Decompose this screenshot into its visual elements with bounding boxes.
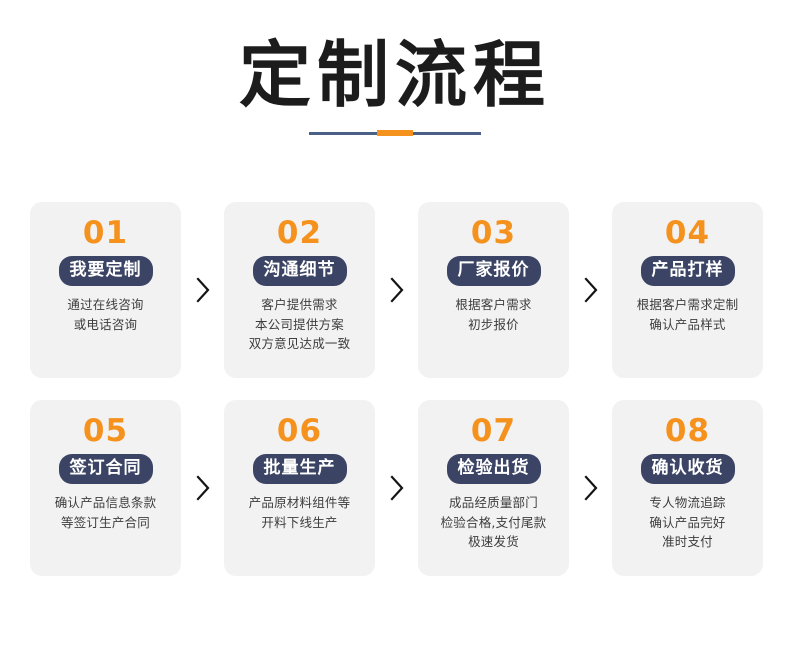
step-card[interactable]: 05 签订合同 确认产品信息条款 等签订生产合同 [30,400,181,576]
step-description-line: 确认产品样式 [637,315,739,334]
step-description-line: 通过在线咨询 [67,295,143,314]
divider-left-segment [309,132,377,135]
page-header: 定制流程 [0,0,790,136]
step-label-badge: 检验出货 [447,454,541,484]
process-steps-grid: 01 我要定制 通过在线咨询 或电话咨询 02 沟通细节 客户提供需求 本公司提… [0,202,790,576]
step-label-badge: 厂家报价 [447,256,541,286]
step-description-line: 成品经质量部门 [441,493,547,512]
step-card[interactable]: 06 批量生产 产品原材料组件等 开料下线生产 [224,400,375,576]
step-description-line: 本公司提供方案 [249,315,351,334]
step-number: 06 [277,414,322,448]
customization-process-page: 定制流程 01 我要定制 通过在线咨询 或电话咨询 [0,0,790,645]
divider-accent-segment [377,130,413,136]
step-description-line: 检验合格,支付尾款 [441,513,547,532]
step-description-line: 开料下线生产 [249,513,351,532]
chevron-right-icon [569,202,612,378]
step-description-line: 极速发货 [441,532,547,551]
step-card[interactable]: 01 我要定制 通过在线咨询 或电话咨询 [30,202,181,378]
step-description: 根据客户需求定制 确认产品样式 [637,295,739,334]
step-card[interactable]: 04 产品打样 根据客户需求定制 确认产品样式 [612,202,763,378]
step-label-badge: 我要定制 [59,256,153,286]
step-description: 确认产品信息条款 等签订生产合同 [55,493,157,532]
step-description-line: 初步报价 [455,315,531,334]
step-label-badge: 批量生产 [253,454,347,484]
step-description-line: 确认产品完好 [649,513,725,532]
step-description: 客户提供需求 本公司提供方案 双方意见达成一致 [249,295,351,353]
step-label-badge: 确认收货 [641,454,735,484]
chevron-right-icon [181,400,224,576]
step-description: 成品经质量部门 检验合格,支付尾款 极速发货 [441,493,547,551]
step-number: 01 [83,216,128,250]
step-description-line: 专人物流追踪 [649,493,725,512]
step-description-line: 准时支付 [649,532,725,551]
step-number: 07 [471,414,516,448]
step-number: 05 [83,414,128,448]
step-number: 08 [665,414,710,448]
step-description: 专人物流追踪 确认产品完好 准时支付 [649,493,725,551]
step-description-line: 客户提供需求 [249,295,351,314]
step-description-line: 等签订生产合同 [55,513,157,532]
step-description-line: 双方意见达成一致 [249,334,351,353]
step-number: 02 [277,216,322,250]
step-card[interactable]: 02 沟通细节 客户提供需求 本公司提供方案 双方意见达成一致 [224,202,375,378]
process-row-2: 05 签订合同 确认产品信息条款 等签订生产合同 06 批量生产 产品原材料组件… [0,400,790,576]
step-card[interactable]: 03 厂家报价 根据客户需求 初步报价 [418,202,569,378]
chevron-right-icon [569,400,612,576]
step-description-line: 产品原材料组件等 [249,493,351,512]
chevron-right-icon [181,202,224,378]
step-description-line: 根据客户需求 [455,295,531,314]
page-title: 定制流程 [0,34,790,117]
step-label-badge: 产品打样 [641,256,735,286]
step-label-badge: 签订合同 [59,454,153,484]
step-description: 通过在线咨询 或电话咨询 [67,295,143,334]
step-card[interactable]: 07 检验出货 成品经质量部门 检验合格,支付尾款 极速发货 [418,400,569,576]
step-label-badge: 沟通细节 [253,256,347,286]
process-row-1: 01 我要定制 通过在线咨询 或电话咨询 02 沟通细节 客户提供需求 本公司提… [0,202,790,378]
step-description: 根据客户需求 初步报价 [455,295,531,334]
chevron-right-icon [375,202,418,378]
step-description: 产品原材料组件等 开料下线生产 [249,493,351,532]
divider-right-segment [413,132,481,135]
step-description-line: 确认产品信息条款 [55,493,157,512]
step-number: 03 [471,216,516,250]
step-description-line: 根据客户需求定制 [637,295,739,314]
title-divider [309,131,481,136]
chevron-right-icon [375,400,418,576]
step-number: 04 [665,216,710,250]
step-description-line: 或电话咨询 [67,315,143,334]
step-card[interactable]: 08 确认收货 专人物流追踪 确认产品完好 准时支付 [612,400,763,576]
